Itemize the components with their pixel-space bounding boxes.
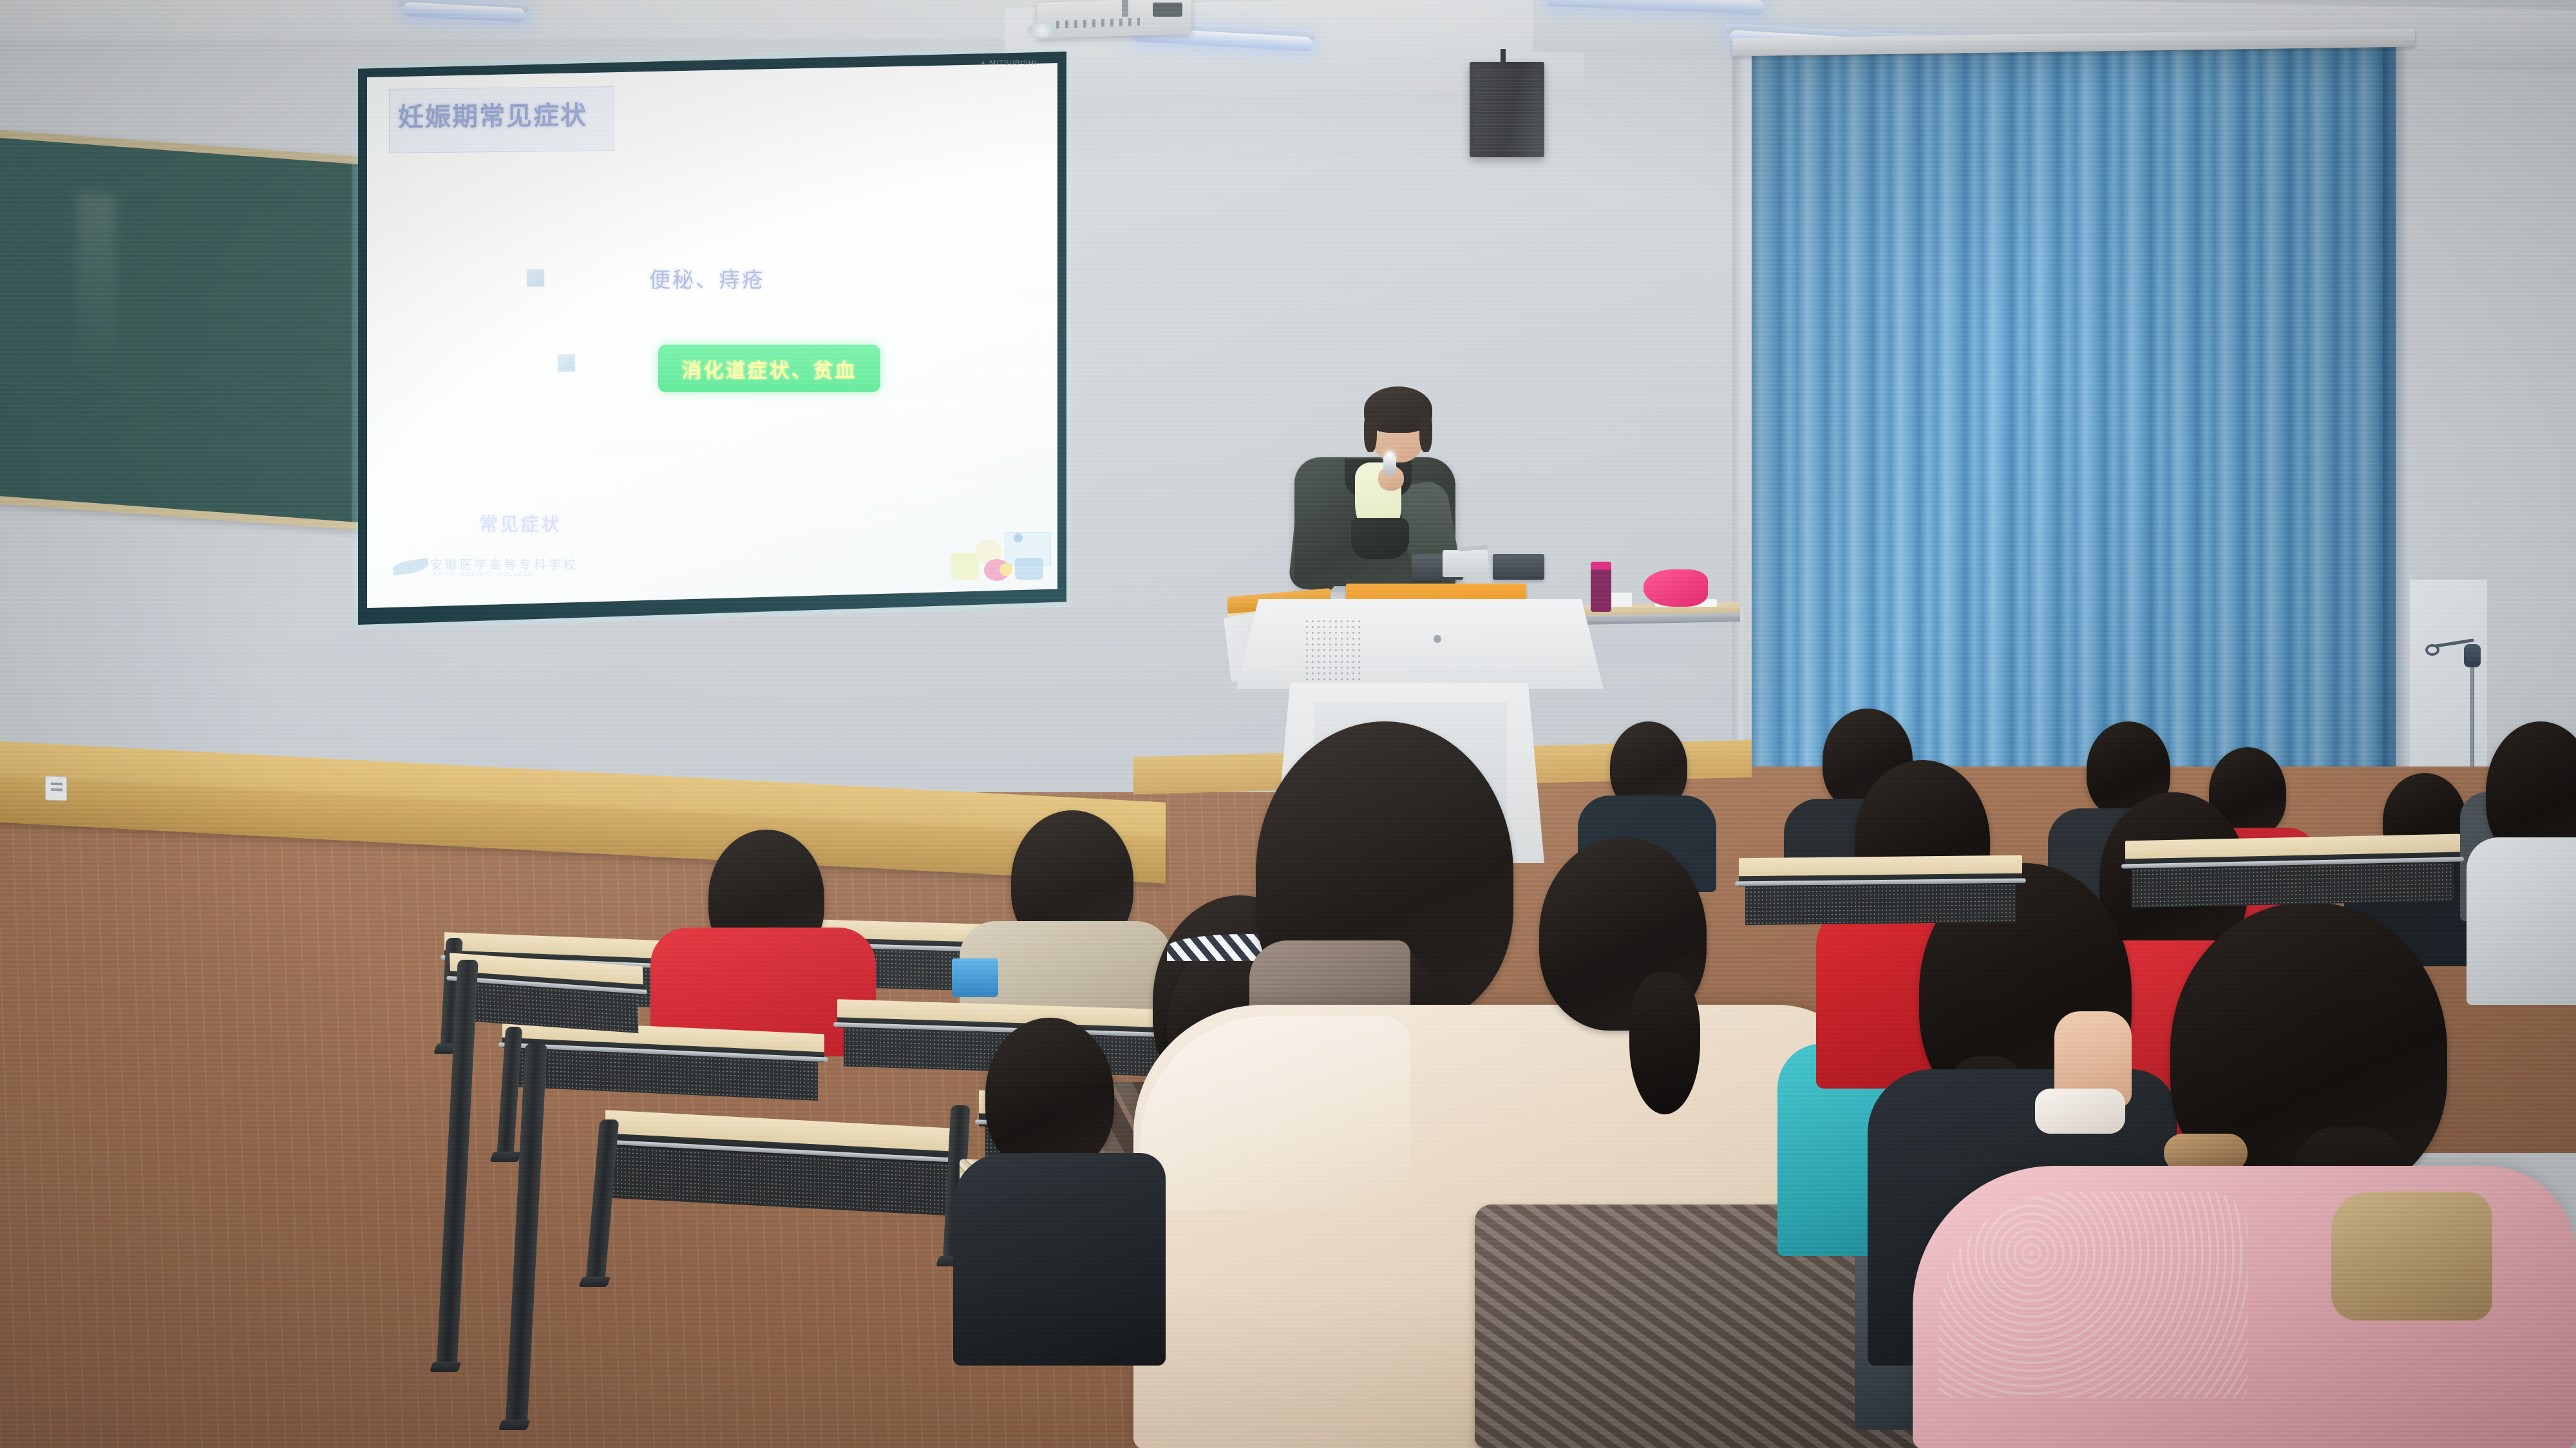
podium-lock-icon[interactable] (1434, 635, 1441, 643)
podium-vent-pattern (1304, 618, 1362, 689)
presenter-handbag (1351, 518, 1409, 559)
table-row (1739, 855, 2022, 920)
microphone-clip-icon (2425, 644, 2439, 656)
wall-speaker (1470, 62, 1544, 157)
microphone-tip-icon (1385, 451, 1395, 460)
slide-highlight-box: 消化道症状、贫血 (658, 345, 880, 392)
white-box-item (1610, 593, 1632, 607)
logo-swoosh-icon (392, 558, 430, 576)
list-item (1539, 837, 1707, 1031)
thermos-cup[interactable] (1591, 562, 1611, 612)
slide-surface: 妊娠期常见症状 便秘、痔疮 消化道症状、贫血 常见症状 安徽医学高等专科学校 A… (367, 63, 1057, 608)
slide-bullet-1: 便秘、痔疮 (649, 263, 765, 294)
list-item (2467, 837, 2576, 1005)
speaker-grill (1475, 68, 1539, 151)
curtain-shading (1752, 41, 2396, 814)
presenter-hair-right (1419, 410, 1432, 452)
bullet-square-icon-1 (527, 269, 544, 287)
table-row (605, 1110, 966, 1219)
slide-title: 妊娠期常见症状 (398, 94, 611, 133)
wall-outlet-icon[interactable] (45, 776, 67, 801)
fur-collar (2331, 1192, 2492, 1320)
slide-institution-logo: 安徽医学高等专科学校 ANHUI MEDICAL COLLEGE (393, 554, 528, 580)
slide-decoration-cluster (951, 528, 1047, 590)
blackboard (0, 137, 361, 523)
projector-lens (1028, 23, 1056, 37)
logo-chinese-text: 安徽医学高等专科学校 (430, 555, 578, 573)
classroom-photo: 妊娠期常见症状 便秘、痔疮 消化道症状、贫血 常见症状 安徽医学高等专科学校 A… (0, 0, 2576, 1448)
blue-cup[interactable] (952, 958, 998, 997)
slide-footer-text: 常见症状 (479, 510, 562, 537)
bullet-square-icon-2 (558, 354, 575, 372)
list-item (985, 1018, 1114, 1172)
podium-control-panel[interactable] (1443, 550, 1488, 577)
projector-ceiling-bracket (1153, 3, 1182, 17)
podium-body (1236, 599, 1604, 689)
window-gap (2410, 580, 2487, 792)
projection-screen: 妊娠期常见症状 便秘、痔疮 消化道症状、贫血 常见症状 安徽医学高等专科学校 A… (358, 52, 1066, 625)
projector-mount-arm (1122, 0, 1128, 17)
microphone-stand-head[interactable] (2464, 644, 2481, 667)
presenter-hair-left (1364, 410, 1377, 452)
fuzzy-texture (1938, 1192, 2248, 1398)
mitsubishi-logo-icon: ▲ (980, 59, 987, 67)
podium-monitor-right[interactable] (1493, 554, 1544, 580)
slide-bullet-2: 消化道症状、贫血 (682, 354, 857, 383)
curtain-edge (2383, 41, 2409, 814)
sleeve-cuff (2035, 1089, 2125, 1134)
list-item (953, 1153, 1166, 1366)
logo-english-text: ANHUI MEDICAL COLLEGE (433, 571, 534, 577)
table-row (450, 953, 645, 1043)
table-row (2125, 834, 2460, 906)
projector-brand-label: ▲MITSUBISHI (980, 59, 1037, 67)
pink-bag[interactable] (1643, 569, 1708, 607)
blackboard-glare (77, 192, 116, 381)
